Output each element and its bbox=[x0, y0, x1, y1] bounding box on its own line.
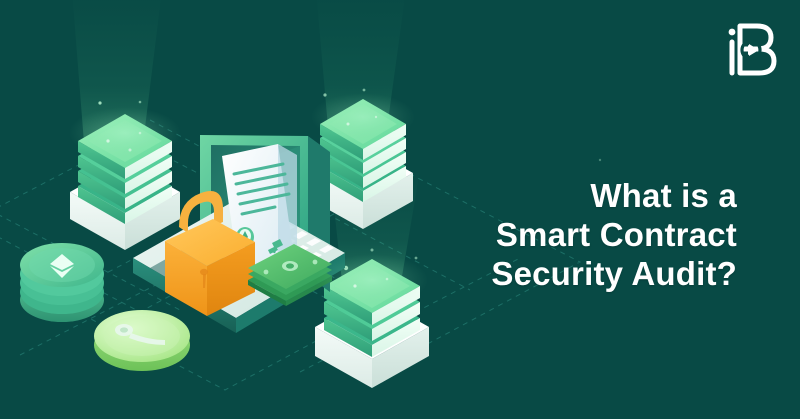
logo-dot-icon bbox=[729, 29, 736, 36]
headline-line-2: Smart Contract bbox=[317, 215, 737, 254]
page-title: What is a Smart Contract Security Audit? bbox=[317, 176, 737, 293]
headline-line-3: Security Audit? bbox=[317, 254, 737, 293]
banner-root: What is a Smart Contract Security Audit? bbox=[0, 0, 800, 419]
ib-monogram-logo[interactable] bbox=[718, 18, 778, 80]
headline-line-1: What is a bbox=[317, 176, 737, 215]
crypto-coin-stack bbox=[20, 243, 104, 322]
ib-logo-icon bbox=[718, 18, 778, 80]
key-coin bbox=[94, 310, 190, 371]
